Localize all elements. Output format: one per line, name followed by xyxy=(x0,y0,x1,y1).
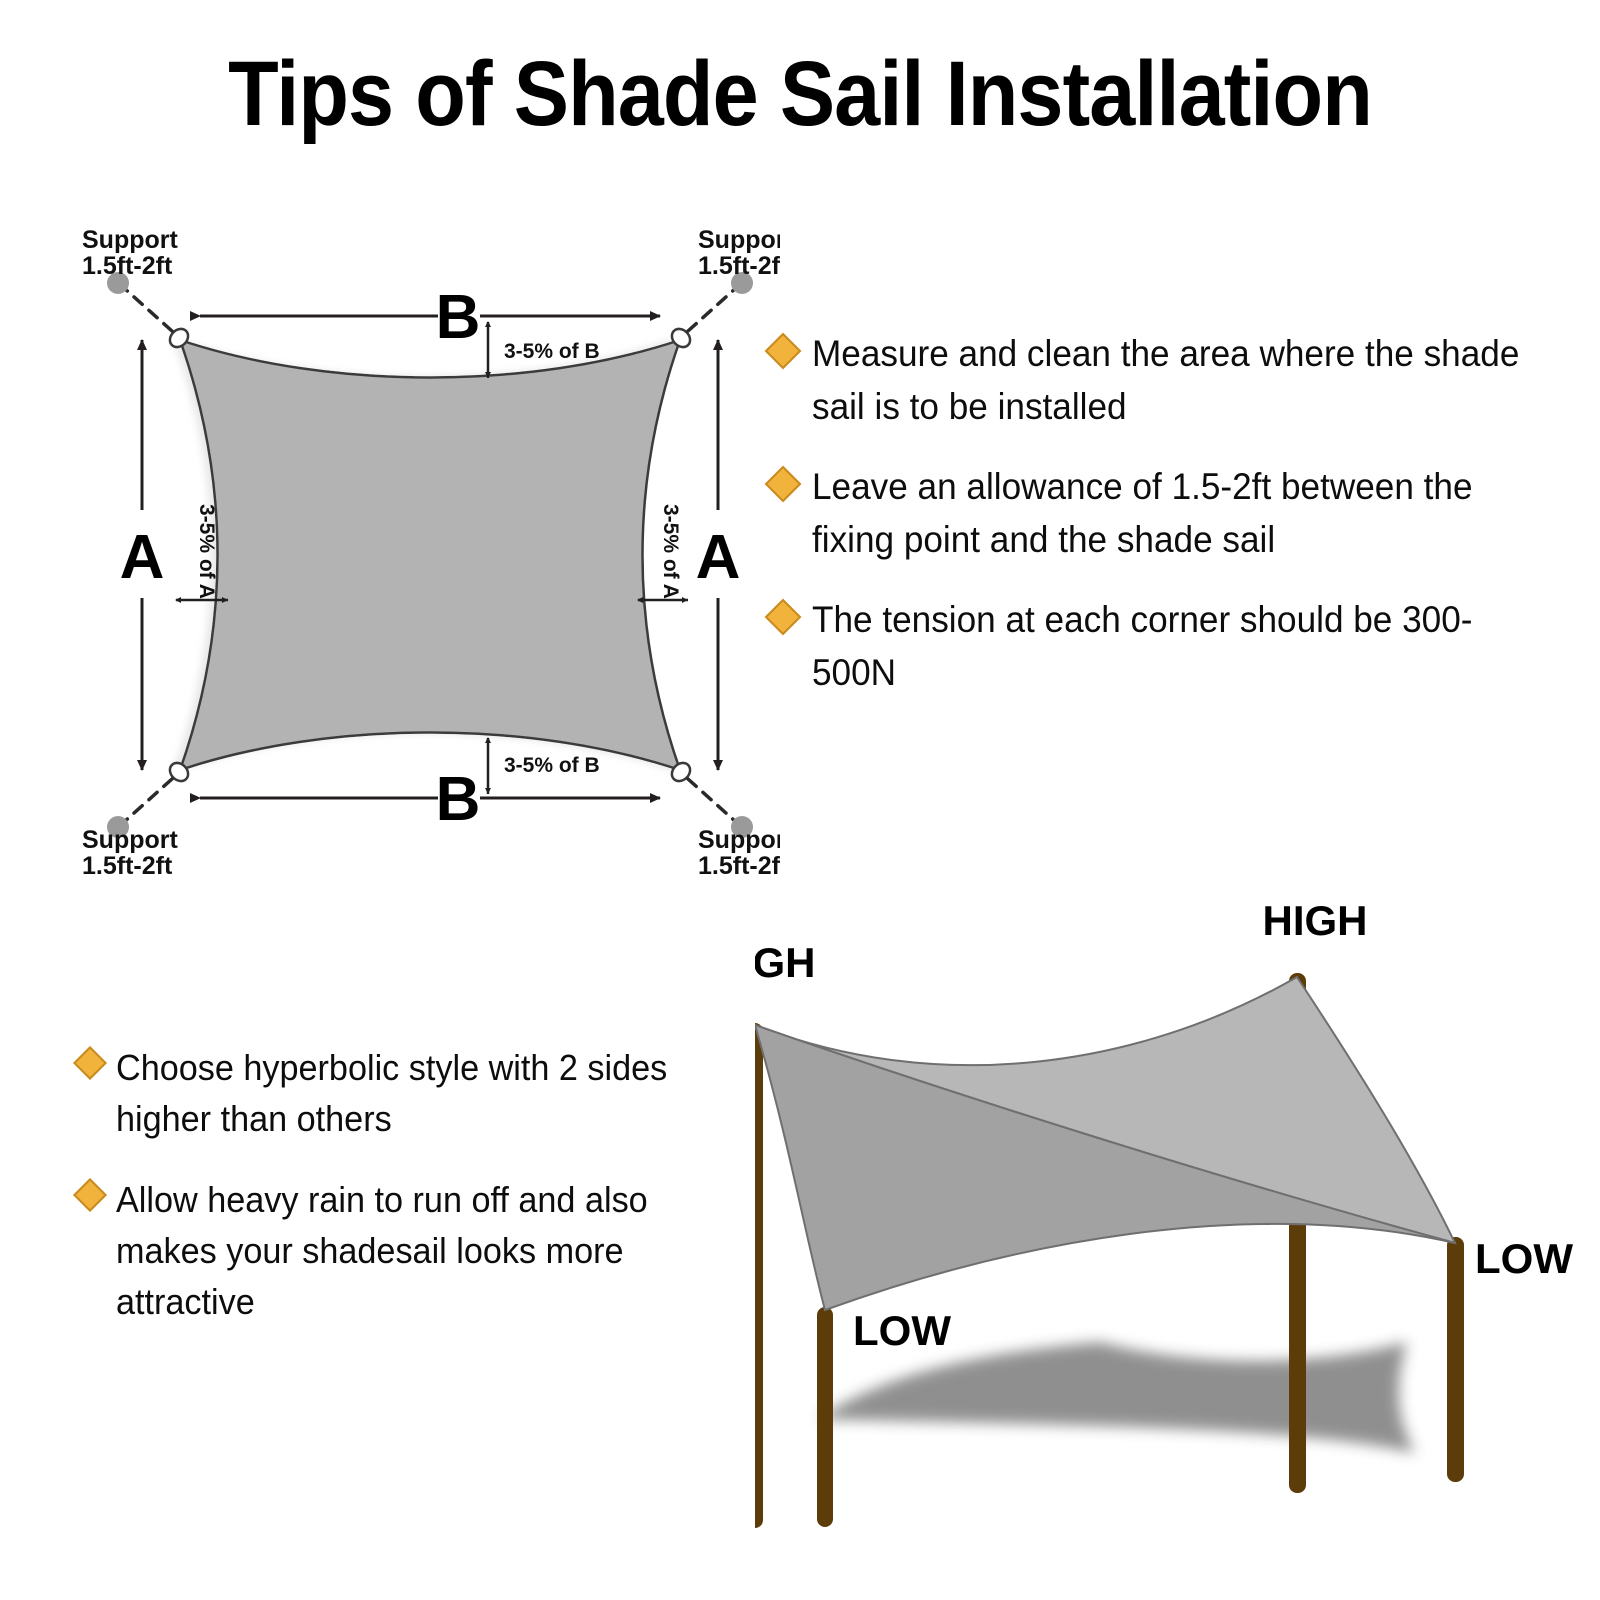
label-post-front-low: LOW xyxy=(853,1307,951,1354)
tip-text: Leave an allowance of 1.5-2ft between th… xyxy=(812,461,1532,566)
infographic-page: Tips of Shade Sail Installation xyxy=(0,0,1600,1600)
post-front-low xyxy=(817,1307,833,1527)
square-sail-diagram: Support 1.5ft-2ft Support 1.5ft-2ft Supp… xyxy=(60,200,780,900)
list-item: Leave an allowance of 1.5-2ft between th… xyxy=(770,461,1570,566)
support-label-top-right-line2: 1.5ft-2ft xyxy=(698,252,780,280)
support-label-top-left-line1: Support xyxy=(82,226,178,254)
diamond-bullet-icon xyxy=(73,1178,107,1212)
ground-shadow xyxy=(818,1342,1415,1453)
support-label-bottom-right-line1: Support xyxy=(698,826,780,854)
curvature-left-label: 3-5% of A xyxy=(195,504,218,599)
sail-body-group xyxy=(180,340,680,770)
label-post-right-high: HIGH xyxy=(1263,897,1368,944)
support-line-top-right xyxy=(688,288,736,331)
curvature-right-label: 3-5% of A xyxy=(659,504,682,599)
hyperbolic-sail-diagram: HIGH HIGH LOW LOW xyxy=(755,895,1600,1555)
support-label-bottom-left-line1: Support xyxy=(82,826,178,854)
support-label-bottom-left-line2: 1.5ft-2ft xyxy=(82,852,173,880)
label-post-back-low: LOW xyxy=(1475,1235,1573,1282)
dimension-a-left-group: A xyxy=(120,340,165,770)
diamond-bullet-icon xyxy=(765,599,802,636)
tip-text: The tension at each corner should be 300… xyxy=(812,594,1532,699)
dimension-a-right-group: A xyxy=(696,340,741,770)
curvature-right-group: 3-5% of A xyxy=(638,504,688,600)
tip-text: Measure and clean the area where the sha… xyxy=(812,328,1532,433)
support-line-bottom-right xyxy=(688,779,736,822)
tips-list-right: Measure and clean the area where the sha… xyxy=(770,328,1570,727)
diamond-bullet-icon xyxy=(765,333,802,370)
list-item: Choose hyperbolic style with 2 sides hig… xyxy=(78,1042,778,1144)
dim-b-bottom-letter: B xyxy=(436,765,481,834)
support-label-top-right-line1: Support xyxy=(698,226,780,254)
list-item: Allow heavy rain to run off and also mak… xyxy=(78,1174,778,1327)
tips-list-bottom: Choose hyperbolic style with 2 sides hig… xyxy=(78,1042,778,1358)
dim-b-top-letter: B xyxy=(436,283,481,352)
label-post-left-high: HIGH xyxy=(755,939,816,986)
page-title: Tips of Shade Sail Installation xyxy=(80,48,1520,140)
list-item: Measure and clean the area where the sha… xyxy=(770,328,1570,433)
diamond-bullet-icon xyxy=(73,1046,107,1080)
support-line-top-left xyxy=(124,288,172,331)
diamond-bullet-icon xyxy=(765,466,802,503)
dim-a-left-letter: A xyxy=(120,523,165,592)
tip-text: Choose hyperbolic style with 2 sides hig… xyxy=(116,1042,745,1144)
hyperbolic-sail-surfaces xyxy=(755,977,1455,1310)
curvature-bottom-label: 3-5% of B xyxy=(504,754,600,777)
curvature-top-label: 3-5% of B xyxy=(504,340,600,363)
post-left-high xyxy=(755,1023,763,1528)
support-line-bottom-left xyxy=(124,779,172,822)
support-label-top-left-line2: 1.5ft-2ft xyxy=(82,252,173,280)
dim-a-right-letter: A xyxy=(696,523,741,592)
support-label-bottom-right-line2: 1.5ft-2ft xyxy=(698,852,780,880)
list-item: The tension at each corner should be 300… xyxy=(770,594,1570,699)
tip-text: Allow heavy rain to run off and also mak… xyxy=(116,1174,745,1327)
sail-body xyxy=(180,340,680,770)
post-back-low xyxy=(1447,1237,1464,1482)
